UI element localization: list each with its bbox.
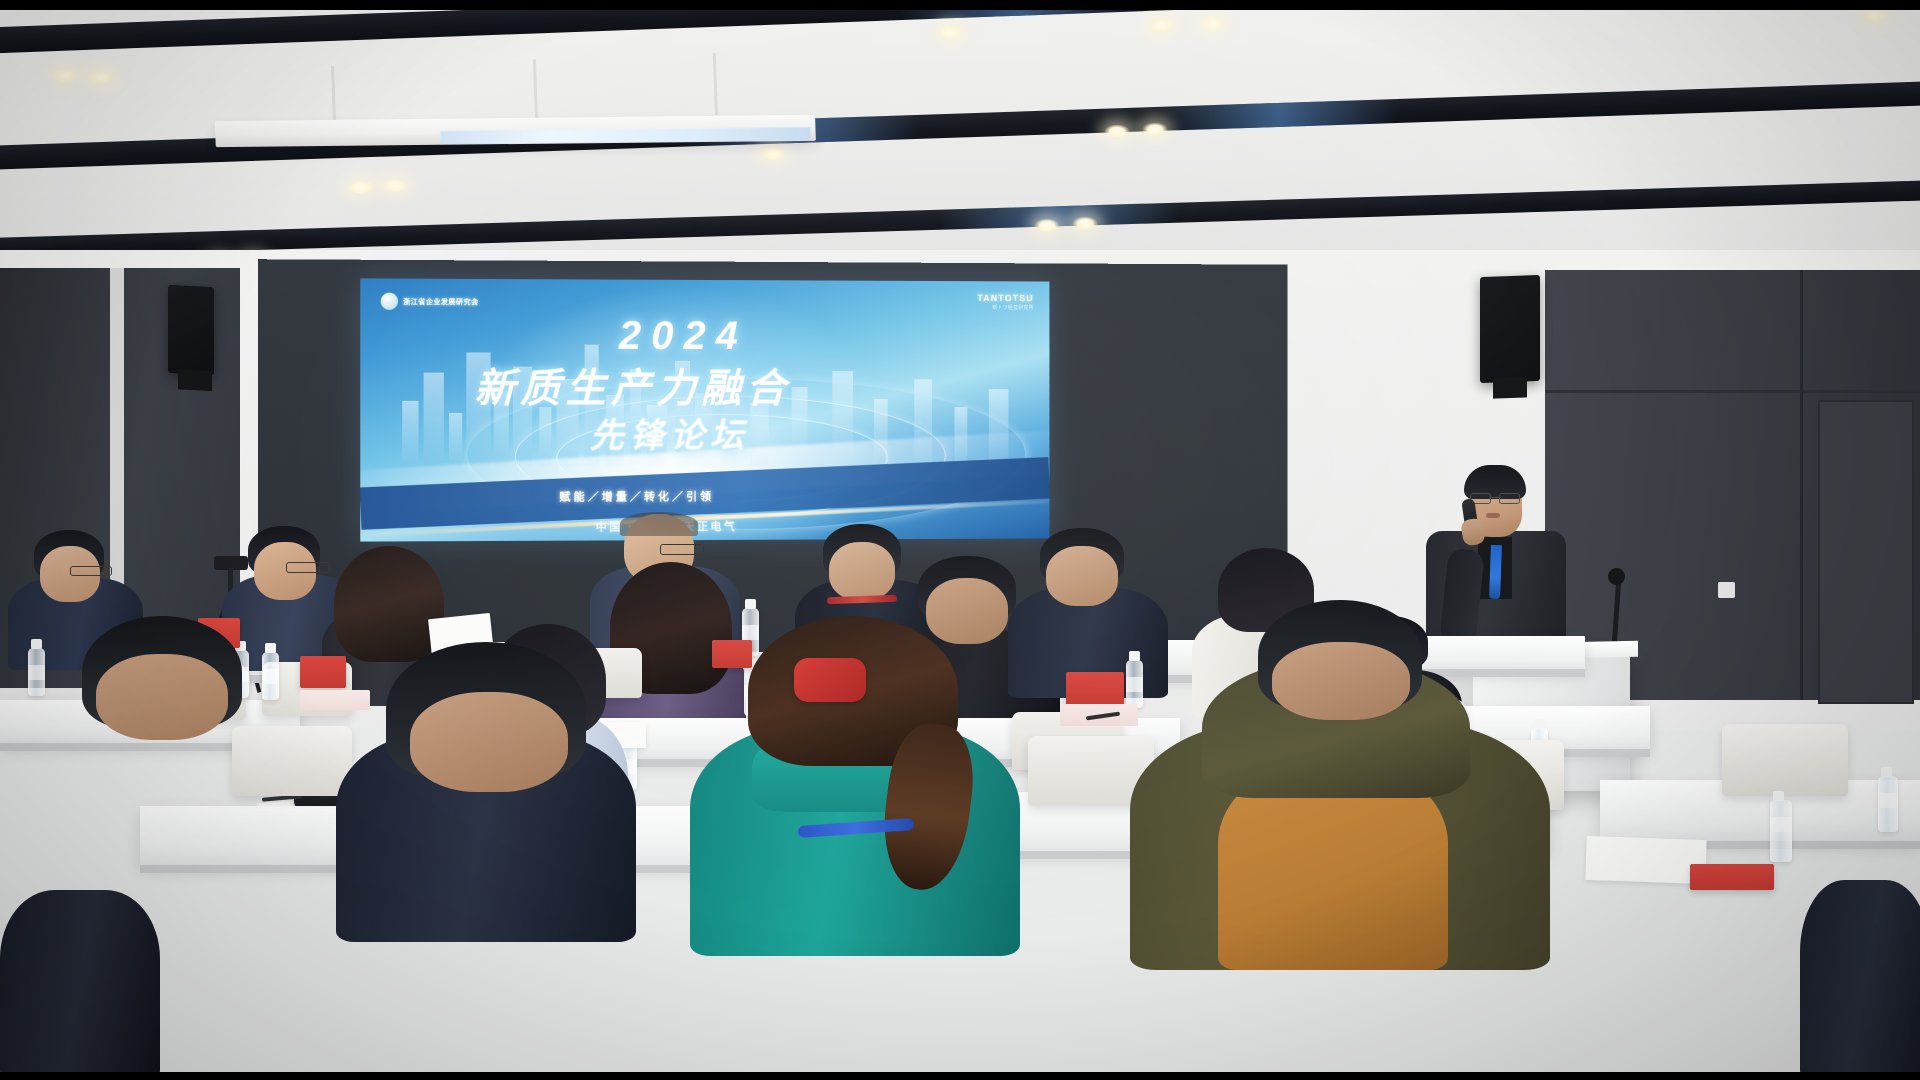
ceiling-light-channel-3 bbox=[0, 178, 1920, 260]
presenter-necktie bbox=[1489, 545, 1502, 599]
document-folder bbox=[1066, 672, 1124, 708]
water-bottle bbox=[1878, 776, 1898, 832]
ceiling-downlight bbox=[52, 68, 78, 83]
screen-logo-right: TANTOTSU 断トツ经营研究所 bbox=[977, 293, 1033, 311]
wall-door-right bbox=[1818, 400, 1914, 704]
brand-subtitle-label: 断トツ经营研究所 bbox=[977, 304, 1033, 311]
audience-member bbox=[0, 880, 160, 1080]
wall-outlet bbox=[1718, 582, 1735, 598]
ceiling-downlight bbox=[1142, 122, 1168, 137]
wall-seam-right-horizontal bbox=[1545, 390, 1920, 393]
microphone-head-right bbox=[1608, 568, 1625, 585]
conference-room-scene: 浙江省企业发展研究会 TANTOTSU 断トツ经营研究所 2024 新质生产力融… bbox=[0, 0, 1920, 1080]
eyeglasses-icon bbox=[1470, 493, 1520, 502]
chair bbox=[1722, 724, 1848, 796]
org-name-label: 浙江省企业发展研究会 bbox=[403, 296, 478, 306]
audience-member-teal-hoodie bbox=[690, 616, 1020, 956]
red-hair-bow bbox=[794, 658, 866, 702]
audience-member bbox=[40, 616, 290, 916]
screen-year-title: 2024 bbox=[619, 314, 748, 359]
audience-member bbox=[1800, 820, 1920, 1080]
ceiling-downlight bbox=[1200, 16, 1226, 31]
water-bottle bbox=[1770, 800, 1792, 862]
letterbox-top bbox=[0, 0, 1920, 10]
org-emblem-icon bbox=[381, 293, 398, 310]
ceiling-downlight bbox=[938, 25, 964, 40]
audience-member-olive-hoodie bbox=[1130, 600, 1550, 970]
document-folder bbox=[1690, 864, 1774, 890]
letterbox-bottom bbox=[0, 1072, 1920, 1080]
pendant-light-fixture bbox=[213, 50, 817, 191]
screen-keywords-line: 赋能／增量／转化／引领 bbox=[559, 488, 714, 505]
screen-headline-primary: 新质生产力融合 bbox=[474, 356, 790, 414]
screen-headline-secondary: 先锋论坛 bbox=[590, 408, 750, 457]
screen-logo-left: 浙江省企业发展研究会 bbox=[381, 293, 479, 311]
audience-member bbox=[336, 642, 636, 942]
ceiling-downlight bbox=[88, 70, 114, 85]
ceiling-downlight bbox=[1862, 8, 1888, 23]
ceiling-downlight bbox=[1148, 18, 1174, 33]
audio-speaker-left bbox=[168, 285, 214, 375]
ceiling-downlight bbox=[1072, 216, 1098, 231]
ceiling-downlight bbox=[1104, 124, 1130, 139]
wall-seam-right bbox=[1800, 270, 1803, 700]
audio-speaker-right bbox=[1480, 275, 1540, 383]
brand-name-label: TANTOTSU bbox=[977, 293, 1033, 303]
presenter-mouth bbox=[1486, 513, 1500, 518]
paper-sheet bbox=[1585, 836, 1706, 884]
led-presentation-screen[interactable]: 浙江省企业发展研究会 TANTOTSU 断トツ经营研究所 2024 新质生产力融… bbox=[360, 278, 1049, 541]
ceiling-downlight bbox=[1034, 218, 1060, 233]
